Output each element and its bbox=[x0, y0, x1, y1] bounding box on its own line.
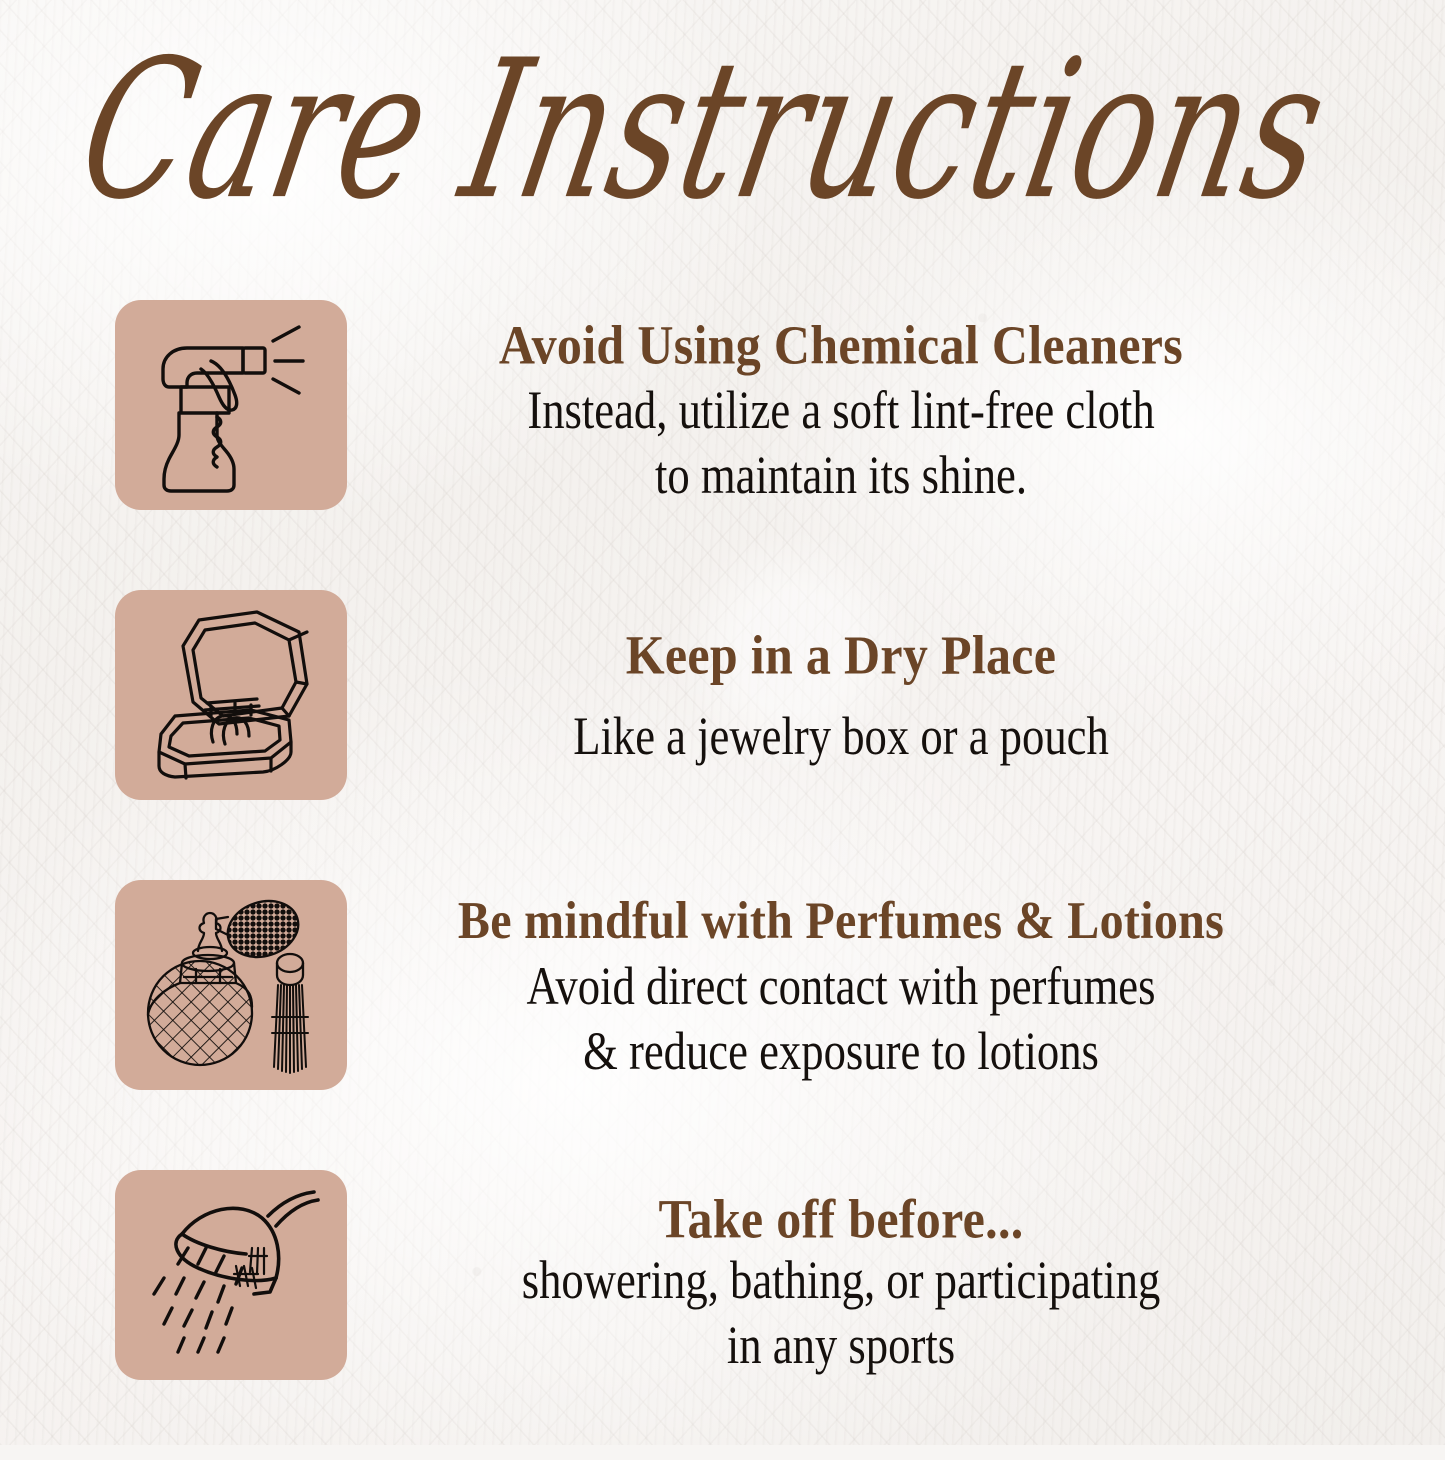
list-item: Be mindful with Perfumes & Lotions Avoid… bbox=[0, 880, 1445, 1170]
perfume-atomizer-icon bbox=[136, 891, 326, 1079]
body-line: to maintain its shine. bbox=[393, 444, 1290, 509]
body-line: Avoid direct contact with perfumes bbox=[393, 955, 1290, 1020]
list-item: Avoid Using Chemical Cleaners Instead, u… bbox=[0, 300, 1445, 590]
instruction-body: Like a jewelry box or a pouch bbox=[393, 705, 1290, 770]
shower-head-icon bbox=[136, 1186, 326, 1364]
instruction-text-4: Take off before... showering, bathing, o… bbox=[347, 1170, 1445, 1364]
instruction-text-3: Be mindful with Perfumes & Lotions Avoid… bbox=[347, 880, 1445, 1070]
instruction-text-2: Keep in a Dry Place Like a jewelry box o… bbox=[347, 590, 1445, 762]
instruction-heading: Be mindful with Perfumes & Lotions bbox=[369, 894, 1313, 950]
instruction-heading: Avoid Using Chemical Cleaners bbox=[369, 316, 1313, 374]
body-line: & reduce exposure to lotions bbox=[393, 1020, 1290, 1085]
body-line: showering, bathing, or participating bbox=[393, 1249, 1290, 1314]
instruction-body: Avoid direct contact with perfumes & red… bbox=[393, 955, 1290, 1086]
body-line: Like a jewelry box or a pouch bbox=[393, 705, 1290, 770]
spray-bottle-icon bbox=[151, 317, 311, 493]
icon-tile-perfumes-lotions bbox=[115, 880, 347, 1090]
instruction-body: showering, bathing, or participating in … bbox=[393, 1249, 1290, 1380]
instruction-heading: Take off before... bbox=[369, 1190, 1313, 1248]
icon-tile-take-off-before bbox=[115, 1170, 347, 1380]
instruction-heading: Keep in a Dry Place bbox=[369, 626, 1313, 684]
page-title: Care Instructions bbox=[69, 34, 1340, 226]
list-item: Take off before... showering, bathing, o… bbox=[0, 1170, 1445, 1460]
jewelry-box-icon bbox=[139, 606, 323, 784]
page-title-container: Care Instructions bbox=[0, 34, 1445, 177]
body-line: Instead, utilize a soft lint-free cloth bbox=[393, 379, 1290, 444]
icon-tile-chemical-cleaners bbox=[115, 300, 347, 510]
instruction-list: Avoid Using Chemical Cleaners Instead, u… bbox=[0, 300, 1445, 1460]
instruction-body: Instead, utilize a soft lint-free cloth … bbox=[393, 379, 1290, 510]
body-line: in any sports bbox=[393, 1314, 1290, 1379]
list-item: Keep in a Dry Place Like a jewelry box o… bbox=[0, 590, 1445, 880]
care-instructions-card: Care Instructions bbox=[0, 0, 1445, 1445]
instruction-text-1: Avoid Using Chemical Cleaners Instead, u… bbox=[347, 300, 1445, 494]
icon-tile-dry-place bbox=[115, 590, 347, 800]
